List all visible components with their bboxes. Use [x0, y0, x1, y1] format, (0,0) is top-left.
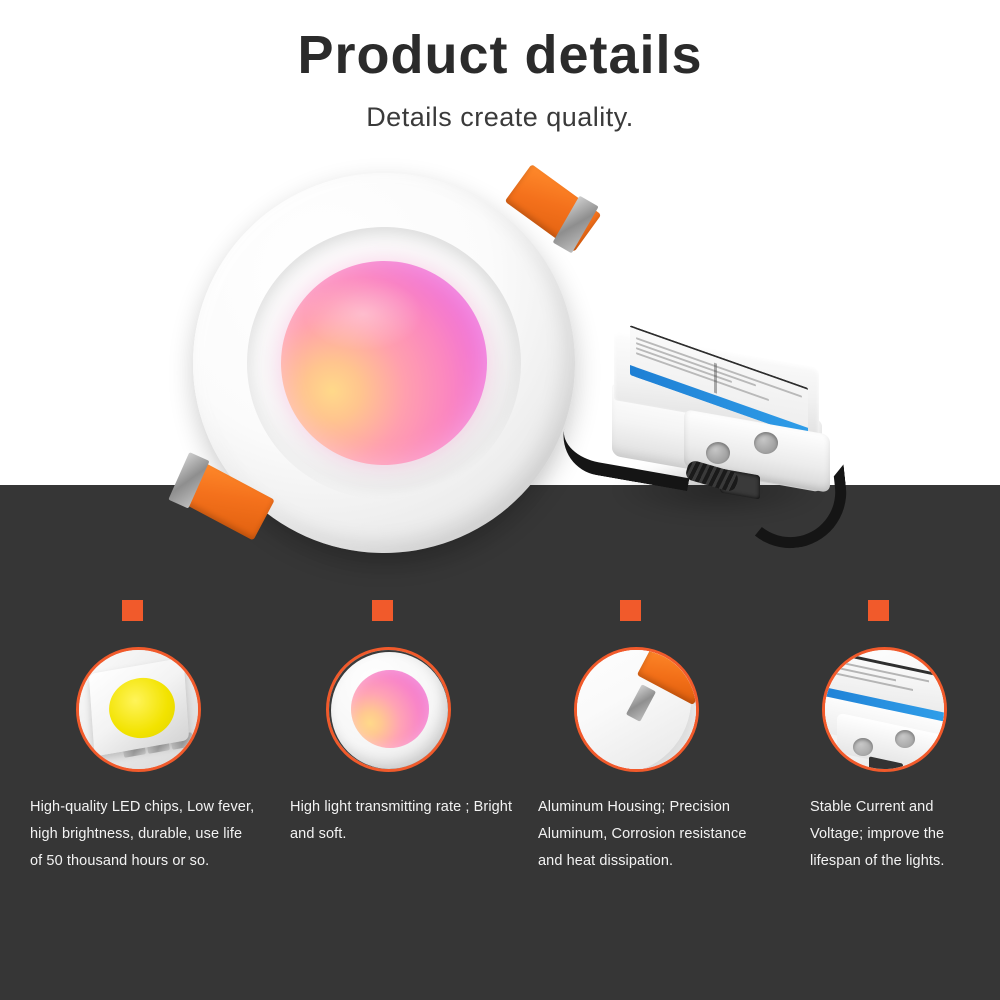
downlight-assembly: [185, 165, 585, 565]
driver-screw-hole: [706, 442, 730, 464]
feature-image-downlight-face: [326, 647, 451, 772]
driver-screw-hole: [754, 432, 778, 454]
driver-closeup-screw-hole: [853, 738, 873, 756]
feature-item-light-transmission: High light transmitting rate ; Bright an…: [318, 600, 548, 848]
square-marker-icon: [122, 600, 143, 621]
driver-output-cable: [732, 464, 852, 553]
feature-text: Aluminum Housing; Precision Aluminum, Co…: [538, 794, 770, 874]
page-subtitle: Details create quality.: [0, 82, 1000, 133]
square-marker-icon: [868, 600, 889, 621]
header: Product details Details create quality.: [0, 0, 1000, 160]
feature-text: Stable Current and Voltage; improve the …: [810, 794, 990, 874]
feature-image-housing: [574, 647, 699, 772]
feature-list: High-quality LED chips, Low fever, high …: [0, 600, 1000, 1000]
square-marker-icon: [620, 600, 641, 621]
led-driver-box: [608, 350, 838, 525]
feature-item-led-chips: High-quality LED chips, Low fever, high …: [68, 600, 298, 874]
feature-text: High light transmitting rate ; Bright an…: [290, 794, 520, 848]
feature-image-led-chip: [76, 647, 201, 772]
feature-item-aluminum-housing: Aluminum Housing; Precision Aluminum, Co…: [566, 600, 796, 874]
driver-closeup-screw-hole: [895, 730, 915, 748]
downlight-gloss-highlight: [303, 277, 423, 351]
hero-product-image: [0, 150, 1000, 590]
feature-image-driver: [822, 647, 947, 772]
page-title: Product details: [0, 0, 1000, 82]
square-marker-icon: [372, 600, 393, 621]
face-rgb-diffuser: [351, 670, 429, 748]
feature-item-stable-current: Stable Current and Voltage; improve the …: [814, 600, 1000, 874]
feature-text: High-quality LED chips, Low fever, high …: [30, 794, 258, 874]
